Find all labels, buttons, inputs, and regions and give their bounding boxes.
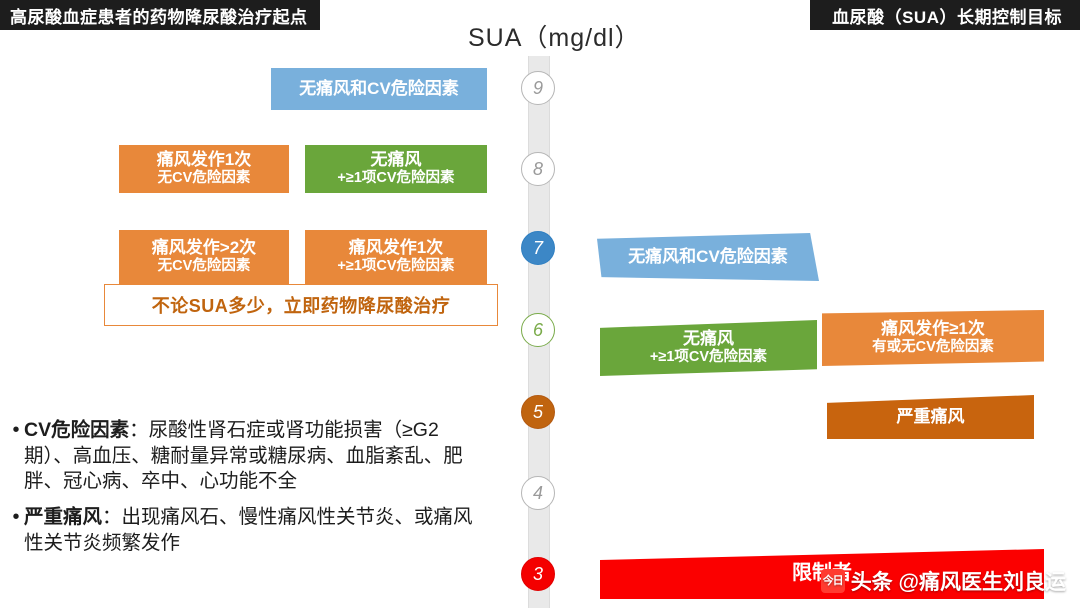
axis-tick-7: 7	[521, 231, 555, 265]
watermark: 今日 头条 @痛风医生刘良运	[821, 566, 1066, 596]
right-box-level5-severe: 严重痛风	[827, 395, 1034, 439]
bullet-icon: •	[8, 418, 24, 443]
left-box-level7-gout2: 痛风发作>2次 无CV危险因素	[119, 230, 289, 284]
left-box-level7-gout1-label: 痛风发作1次	[349, 238, 443, 258]
left-box-level7-gout2-sub: 无CV危险因素	[158, 258, 251, 275]
right-box-level6-nogout-sub: +≥1项CV危险因素	[650, 349, 767, 366]
right-box-level6-gout: 痛风发作≥1次 有或无CV危险因素	[822, 310, 1044, 366]
left-box-level8-gout1-sub: 无CV危险因素	[158, 170, 251, 187]
axis-tick-6: 6	[521, 313, 555, 347]
right-box-level5-severe-label: 严重痛风	[897, 407, 965, 427]
left-box-level8-gout1: 痛风发作1次 无CV危险因素	[119, 145, 289, 193]
left-box-level7-gout1: 痛风发作1次 +≥1项CV危险因素	[305, 230, 487, 284]
axis-tick-3: 3	[521, 557, 555, 591]
left-box-level8-gout1-label: 痛风发作1次	[157, 150, 251, 170]
left-box-level8-nogout: 无痛风 +≥1项CV危险因素	[305, 145, 487, 193]
footnote-item-cv-text: CV危险因素：尿酸性肾石症或肾功能损害（≥G2期）、高血压、糖耐量异常或糖尿病、…	[24, 418, 478, 495]
right-box-level7: 无痛风和CV危险因素	[597, 233, 819, 281]
right-box-level7-label: 无痛风和CV危险因素	[628, 247, 788, 267]
axis-tick-4: 4	[521, 476, 555, 510]
footnote-item-cv: • CV危险因素：尿酸性肾石症或肾功能损害（≥G2期）、高血压、糖耐量异常或糖尿…	[8, 418, 478, 495]
slide-root: 高尿酸血症患者的药物降尿酸治疗起点 血尿酸（SUA）长期控制目标 SUA（mg/…	[0, 0, 1080, 608]
left-box-level7-gout1-sub: +≥1项CV危险因素	[337, 258, 454, 275]
left-box-level9-label: 无痛风和CV危险因素	[299, 79, 459, 99]
footnote-item-severe-strong: 严重痛风	[24, 506, 102, 528]
toutiao-logo-icon: 今日	[821, 569, 845, 593]
axis-tick-8: 8	[521, 152, 555, 186]
right-box-level6-nogout-label: 无痛风	[683, 329, 734, 349]
left-box-level7-gout2-label: 痛风发作>2次	[152, 238, 256, 258]
left-box-level8-nogout-sub: +≥1项CV危险因素	[337, 170, 454, 187]
footnote-item-severe-text: 严重痛风：出现痛风石、慢性痛风性关节炎、或痛风性关节炎频繁发作	[24, 505, 478, 556]
right-box-level6-gout-label: 痛风发作≥1次	[881, 319, 985, 339]
axis-title: SUA（mg/dl）	[468, 18, 641, 54]
left-box-level8-nogout-label: 无痛风	[371, 150, 422, 170]
header-banner-right: 血尿酸（SUA）长期控制目标	[810, 0, 1080, 30]
footnote-list: • CV危险因素：尿酸性肾石症或肾功能损害（≥G2期）、高血压、糖耐量异常或糖尿…	[8, 418, 478, 567]
treatment-callout: 不论SUA多少，立即药物降尿酸治疗	[104, 284, 498, 326]
header-banner-left: 高尿酸血症患者的药物降尿酸治疗起点	[0, 0, 320, 30]
watermark-text: 头条 @痛风医生刘良运	[851, 566, 1066, 596]
left-box-level9: 无痛风和CV危险因素	[271, 68, 487, 110]
footnote-item-severe: • 严重痛风：出现痛风石、慢性痛风性关节炎、或痛风性关节炎频繁发作	[8, 505, 478, 556]
axis-tick-5: 5	[521, 395, 555, 429]
bullet-icon: •	[8, 505, 24, 530]
axis-tick-9: 9	[521, 71, 555, 105]
right-box-level6-nogout: 无痛风 +≥1项CV危险因素	[600, 320, 817, 376]
footnote-item-cv-strong: CV危险因素	[24, 419, 129, 441]
right-box-level6-gout-sub: 有或无CV危险因素	[872, 339, 994, 356]
